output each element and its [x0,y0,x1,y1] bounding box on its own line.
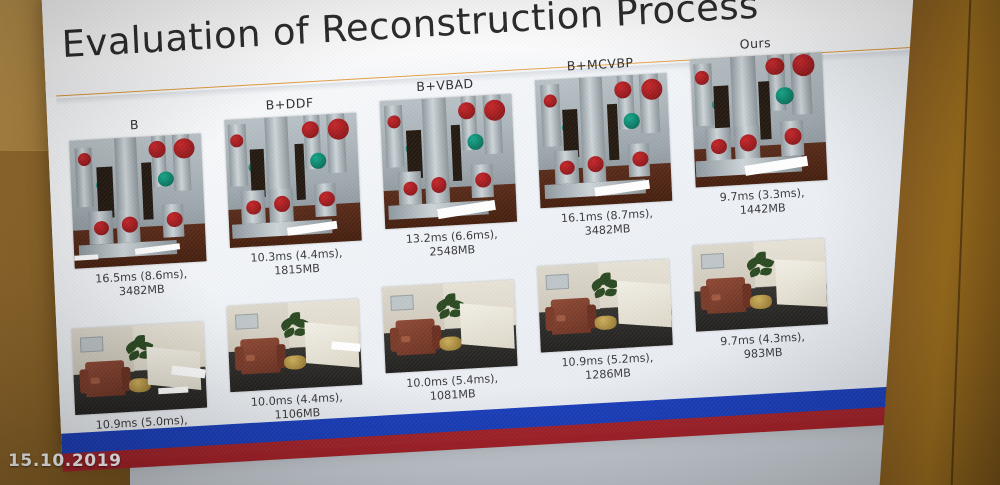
caption-row1: 10.3ms (4.4ms), 1815MB [221,245,372,282]
thumbnail-pipes [224,113,361,248]
slide-surface: Evaluation of Reconstruction Process UNI… [42,0,961,464]
column-b-ddf-room: 10.0ms (4.4ms), 1106MB [218,298,373,426]
column-ours-room: 9.7ms (4.3ms), 983MB [683,238,838,366]
column-header: B+DDF [214,92,364,115]
projection-screen: Evaluation of Reconstruction Process UNI… [42,0,961,464]
thumbnail-pipes [69,133,206,268]
caption-row1: 13.2ms (6.6ms), 2548MB [377,226,528,263]
column-b-ddf: B+DDF [214,92,372,282]
thumbnail-living-room [692,238,828,331]
column-b-mcvbp-room: 10.9ms (5.2ms), 1286MB [528,259,683,387]
caption-row2: 10.9ms (5.2ms), 1286MB [532,349,683,386]
thumbnail-living-room [227,299,363,392]
thumbnail-living-room [71,322,207,415]
column-ours: Ours [680,32,838,222]
caption-row2: 9.7ms (4.3ms), 983MB [687,329,838,366]
column-b: B [59,113,217,303]
camera-date-stamp: 15.10.2019 [8,451,122,471]
caption-row1: 9.7ms (3.3ms), 1442MB [687,184,838,221]
caption-row2: 10.0ms (5.4ms), 1081MB [377,370,528,407]
thumbnail-living-room [537,259,673,352]
caption-row1: 16.1ms (8.7ms), 3482MB [532,205,683,242]
thumbnail-pipes [690,52,827,187]
caption-row1: 16.5ms (8.6ms), 3482MB [66,266,217,303]
thumbnail-pipes [380,94,517,229]
column-header: B [59,113,209,136]
column-b-vbad: B+VBAD [370,73,528,263]
thumbnail-pipes [535,73,672,208]
column-b-vbad-room: 10.0ms (5.4ms), 1081MB [373,279,528,407]
results-grid: B [46,47,959,428]
photo-of-projected-slide: Evaluation of Reconstruction Process UNI… [0,0,1000,485]
column-b-mcvbp: B+MCVBP [525,52,683,242]
thumbnail-living-room [382,280,518,373]
